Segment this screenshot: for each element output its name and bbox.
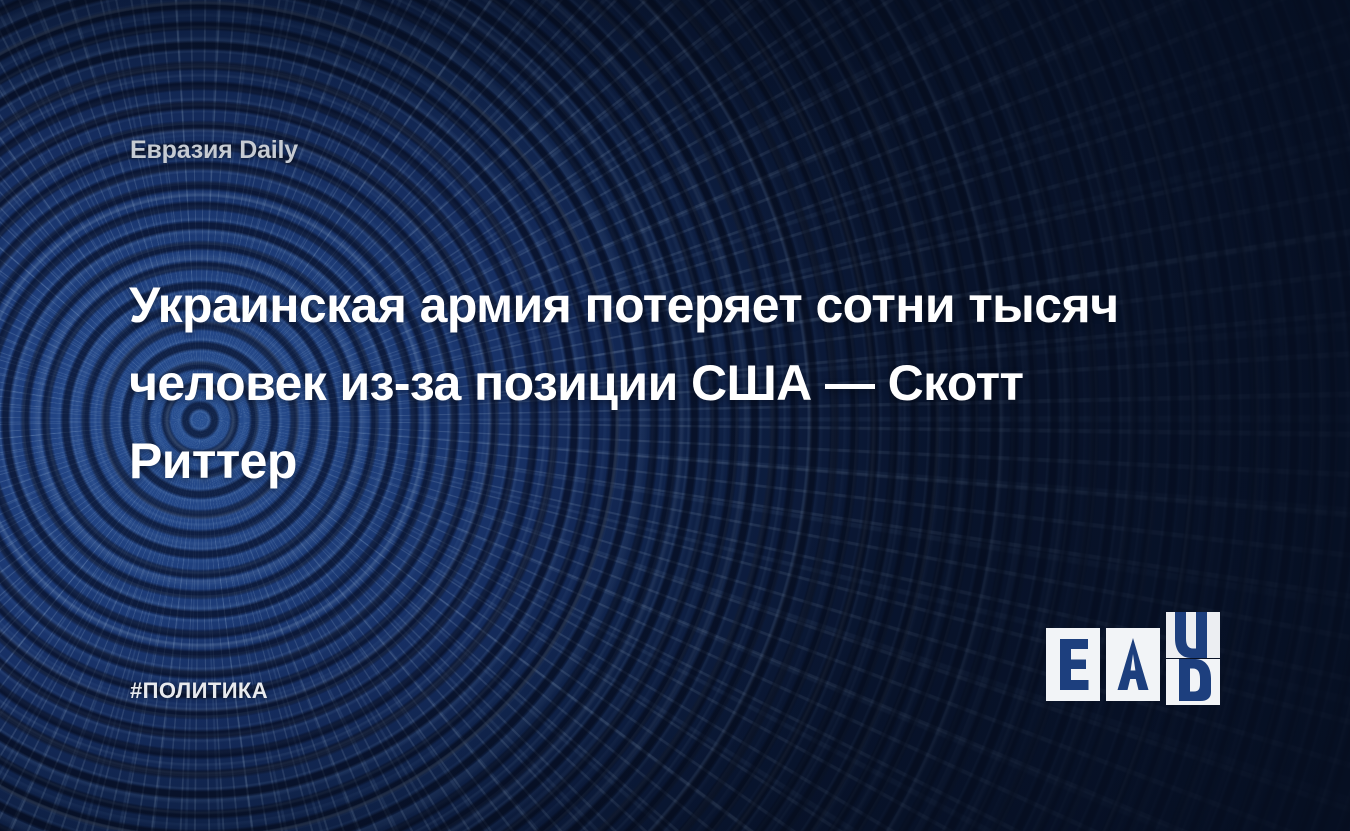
card-content: Евразия Daily Украинская армия потеряет … — [0, 0, 1350, 831]
logo-tile-d-upper — [1166, 612, 1220, 658]
news-share-card: Евразия Daily Украинская армия потеряет … — [0, 0, 1350, 831]
brand-name: Евразия Daily — [130, 136, 298, 165]
logo-tile-d-lower — [1166, 659, 1220, 705]
page-title: Украинская армия потеряет сотни тысяч че… — [129, 266, 1169, 500]
logo-tile-a — [1106, 628, 1160, 701]
logo-tile-e — [1046, 628, 1100, 701]
category-tag-politics[interactable]: #ПОЛИТИКА — [130, 678, 268, 704]
eadaily-logo[interactable] — [1046, 628, 1220, 705]
